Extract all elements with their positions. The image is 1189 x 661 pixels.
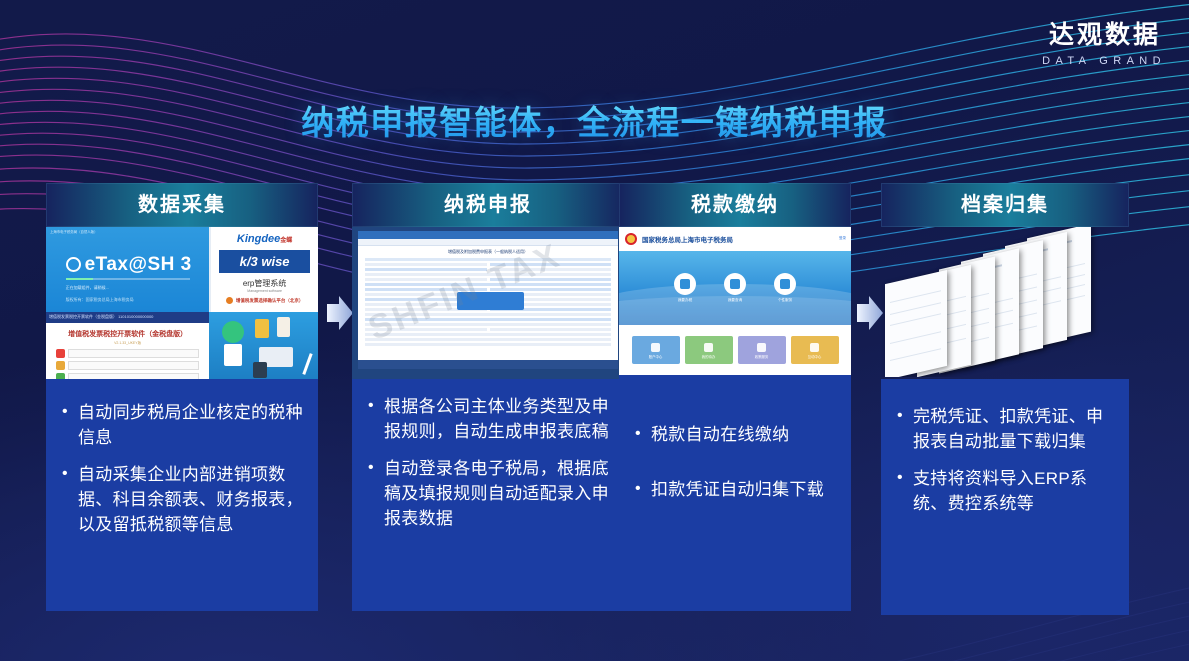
- invoice-field-operator: [56, 373, 199, 379]
- kingdee-product-name: k/3 wise: [219, 250, 310, 273]
- portal-tile-account: 账户中心: [632, 336, 680, 364]
- portal-tile-todo: 我的待办: [685, 336, 733, 364]
- portal-title: 国家税务总局上海市电子税务局: [642, 234, 733, 244]
- bullet-list: 完税凭证、扣款凭证、申报表自动批量下载归集 支持将资料导入ERP系统、费控系统等: [895, 405, 1117, 517]
- portal-header: 国家税务总局上海市电子税务局 登录: [619, 227, 851, 251]
- key-icon: [56, 361, 65, 370]
- list-item: 税款自动在线缴纳: [633, 421, 839, 450]
- etax-ring-icon: [66, 257, 81, 272]
- list-item: 自动登录各电子税局，根据底稿及填报规则自动适配录入申报表数据: [366, 457, 612, 531]
- etax-titlebar-text: 上海市电子税务局（自然人版）: [50, 229, 97, 234]
- portal-service-tiles: 账户中心 我的待办 政策服务 互动中心: [619, 325, 851, 375]
- step-title: 档案归集: [881, 183, 1129, 227]
- list-item: 自动同步税局企业核定的税种信息: [60, 401, 306, 450]
- bullet-list: 税款自动在线缴纳 扣款凭证自动归集下载: [633, 421, 839, 505]
- window-titlebar: [358, 231, 618, 239]
- step-title: 数据采集: [46, 183, 318, 227]
- brand-name-en: DATA GRAND: [1042, 55, 1166, 67]
- magnifier-icon: [222, 321, 244, 343]
- flow-step-tax-payment[interactable]: 税款缴纳 国家税务总局上海市电子税务局 登录 我要办税 我要查询 个性服务: [619, 183, 851, 611]
- list-item: 自动采集企业内部进销项数据、科目余额表、财务报表，以及留抵税额等信息: [60, 463, 306, 537]
- step-thumbnail-software-collage: 上海市电子税务局（自然人版） eTax@SH 3 正在加载组件，请稍候... 版…: [46, 227, 318, 379]
- bullet-list: 根据各公司主体业务类型及申报规则，自动生成申报表底稿 自动登录各电子税局，根据底…: [366, 395, 612, 531]
- portal-tile-interaction: 互动中心: [791, 336, 839, 364]
- platform-badge-icon: [226, 297, 233, 304]
- list-item: 扣款凭证自动归集下载: [633, 476, 839, 505]
- step-description: 自动同步税局企业核定的税种信息 自动采集企业内部进销项数据、科目余额表、财务报表…: [46, 379, 318, 611]
- list-item: 完税凭证、扣款凭证、申报表自动批量下载归集: [895, 405, 1117, 454]
- invoice-software-version: V2.1.33_UKEY版: [46, 341, 209, 346]
- kingdee-subtitle-en: Management software: [211, 289, 318, 293]
- portal-quick-icons: 我要办税 我要查询 个性服务: [619, 251, 851, 325]
- process-flow: 数据采集 上海市电子税务局（自然人版） eTax@SH 3 正在加载组件，请稍候…: [0, 183, 1189, 623]
- etax-progress-bar: [66, 278, 190, 280]
- portal-icon-grid: 个性服务: [774, 273, 796, 303]
- kingdee-brand: Kingdee金蝶: [211, 233, 318, 245]
- page-title: 纳税申报智能体，全流程一键纳税申报: [0, 96, 1189, 144]
- notepad-icon: [255, 319, 269, 338]
- step-thumbnail-tax-form: 增值税及附加税费申报表（一般纳税人适用）: [352, 227, 624, 379]
- bullet-list: 自动同步税局企业核定的税种信息 自动采集企业内部进销项数据、科目余额表、财务报表…: [60, 401, 306, 537]
- lock-icon: [56, 373, 65, 379]
- pen-icon: [303, 353, 313, 375]
- portal-login-link: 登录: [839, 236, 846, 241]
- brand-name-cn: 达观数据: [1042, 22, 1161, 50]
- etax-copyright-text: 版权所有：国家税务总局上海市税务局: [66, 297, 134, 303]
- step-thumbnail-document-stack: [881, 227, 1129, 377]
- invoice-software-login: 增值税发票税控开票软件（金税盘版） V2.1.33_UKEY版: [46, 323, 209, 379]
- flow-step-tax-filing[interactable]: 纳税申报 增值税及附加税费申报表（一般纳税人适用）: [352, 183, 624, 611]
- step-description: 根据各公司主体业务类型及申报规则，自动生成申报表底稿 自动登录各电子税局，根据底…: [352, 379, 624, 611]
- etax-login-screen: 上海市电子税务局（自然人版） eTax@SH 3 正在加载组件，请稍候... 版…: [46, 227, 209, 312]
- step-title: 税款缴纳: [619, 183, 851, 227]
- portal-hero-banner: 我要办税 我要查询 个性服务: [619, 251, 851, 325]
- etax-brand-text: eTax@SH 3: [66, 254, 192, 276]
- step-title: 纳税申报: [352, 183, 624, 227]
- etax-loading-text: 正在加载组件，请稍候...: [66, 285, 109, 291]
- document-page: [885, 270, 947, 377]
- office-illustration: [209, 312, 318, 379]
- list-item: 根据各公司主体业务类型及申报规则，自动生成申报表底稿: [366, 395, 612, 444]
- windows-taskbar: [358, 360, 618, 369]
- invoice-platform-label: 增值税发票选择确认平台（北京）: [211, 297, 318, 304]
- invoice-software-title: 增值税发票税控开票软件（金税盘版）: [46, 329, 209, 339]
- portal-icon-file: 我要办税: [674, 273, 696, 303]
- portal-icon-wallet: 我要查询: [724, 273, 746, 303]
- step-thumbnail-etax-portal: 国家税务总局上海市电子税务局 登录 我要办税 我要查询 个性服务 账户中心 我的…: [619, 227, 851, 375]
- invoice-field-cert: [56, 361, 199, 370]
- document-stack-illustration: [881, 227, 1129, 377]
- clipboard-icon: [224, 344, 242, 366]
- document-icon: [277, 317, 290, 337]
- brand-logo: 达观数据 DATA GRAND: [1042, 22, 1161, 67]
- window-menubar: [358, 239, 618, 246]
- tax-emblem-icon: [625, 233, 637, 245]
- kingdee-subtitle-cn: erp管理系统: [211, 278, 318, 289]
- invoice-field-role: [56, 349, 199, 358]
- list-item: 支持将资料导入ERP系统、费控系统等: [895, 467, 1117, 516]
- calculator-icon: [253, 362, 267, 378]
- portal-tile-policy: 政策服务: [738, 336, 786, 364]
- flow-step-data-collection[interactable]: 数据采集 上海市电子税务局（自然人版） eTax@SH 3 正在加载组件，请稍候…: [46, 183, 318, 611]
- step-description: 完税凭证、扣款凭证、申报表自动批量下载归集 支持将资料导入ERP系统、费控系统等: [881, 379, 1129, 615]
- kingdee-product-panel: Kingdee金蝶 k/3 wise erp管理系统 Management so…: [209, 227, 318, 312]
- tax-form-title: 增值税及附加税费申报表（一般纳税人适用）: [358, 249, 618, 255]
- step-description: 税款自动在线缴纳 扣款凭证自动归集下载: [619, 375, 851, 611]
- flow-step-archive-collection[interactable]: 档案归集 完税凭证、扣款凭证、申报表自动批量下载归集 支持将资料导入ERP系统、…: [881, 183, 1129, 615]
- user-icon: [56, 349, 65, 358]
- invoice-software-titlebar: 增值税发票税控开票软件（金税盘版） 1101010000000000: [46, 312, 209, 323]
